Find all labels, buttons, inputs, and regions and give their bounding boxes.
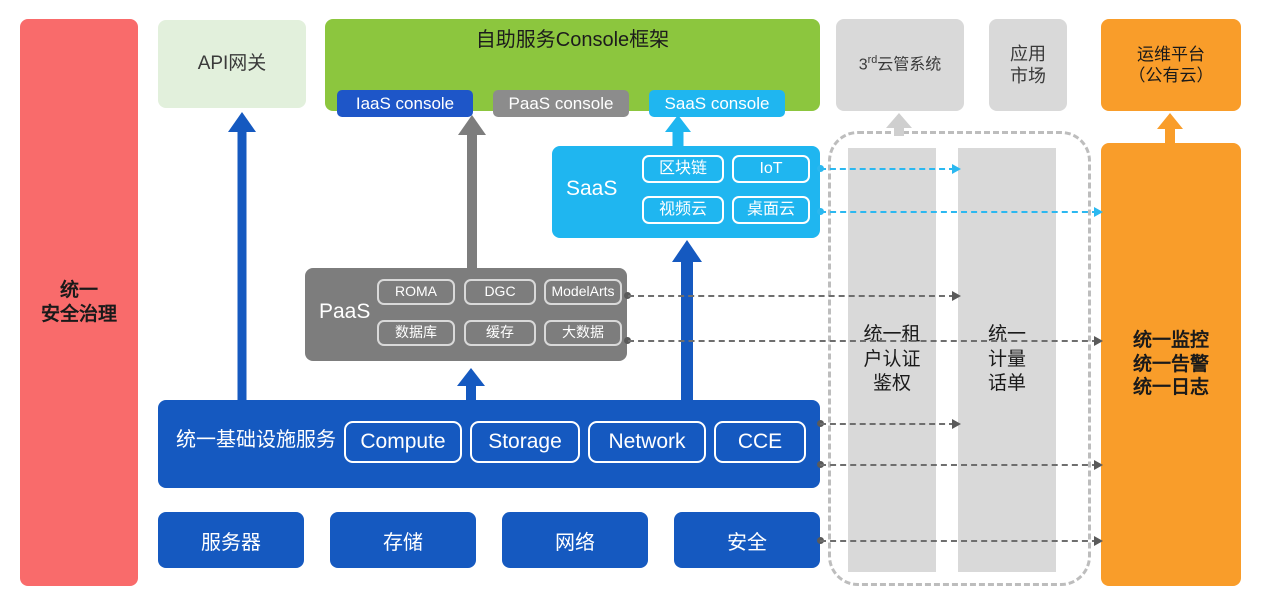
- arrow-infra-to-saas: [672, 240, 702, 400]
- dash-line-saas-to-auth: [820, 168, 955, 170]
- ops-platform-body-label: 统一监控统一告警统一日志: [1133, 329, 1209, 400]
- dash-arrow-paas-to-ops: [1094, 336, 1103, 346]
- saas-chip-iot[interactable]: IoT: [732, 155, 810, 183]
- paas-chip-database[interactable]: 数据库: [377, 320, 455, 346]
- arrow-ops-body-to-ops-top: [1157, 113, 1183, 143]
- arrow-saas-to-console: [665, 115, 691, 146]
- paas-layer-box: PaaS ROMA DGC ModelArts 数据库 缓存 大数据: [305, 268, 627, 361]
- resource-box-network[interactable]: 网络: [502, 512, 648, 568]
- unified-infrastructure-bar: 统一基础设施服务 Compute Storage Network CCE: [158, 400, 820, 488]
- resource-box-security[interactable]: 安全: [674, 512, 820, 568]
- iaas-console-chip[interactable]: IaaS console: [337, 90, 473, 117]
- saas-chip-desktop-cloud[interactable]: 桌面云: [732, 196, 810, 224]
- console-framework-box: 自助服务Console框架 IaaS console PaaS console …: [325, 19, 820, 111]
- api-gateway-box: API网关: [158, 20, 306, 108]
- paas-chip-bigdata[interactable]: 大数据: [544, 320, 622, 346]
- infra-chip-compute[interactable]: Compute: [344, 421, 462, 463]
- app-market-label: 应用市场: [1010, 43, 1046, 88]
- dash-line-paas-to-ops: [628, 340, 1098, 342]
- infra-chip-network[interactable]: Network: [588, 421, 706, 463]
- third-party-cloud-mgmt-box: 3rd云管系统: [836, 19, 964, 111]
- dash-arrow-resource-to-ops: [1094, 536, 1103, 546]
- third-party-label: 3rd云管系统: [859, 54, 942, 75]
- api-gateway-label: API网关: [198, 52, 267, 76]
- paas-chip-roma[interactable]: ROMA: [377, 279, 455, 305]
- paas-chip-dgc[interactable]: DGC: [464, 279, 536, 305]
- resource-box-storage[interactable]: 存储: [330, 512, 476, 568]
- saas-layer-box: SaaS 区块链 IoT 视频云 桌面云: [552, 146, 820, 238]
- infra-chip-cce[interactable]: CCE: [714, 421, 806, 463]
- console-framework-title: 自助服务Console框架: [325, 28, 820, 53]
- dash-line-resource-to-ops: [820, 540, 1098, 542]
- unified-infrastructure-label: 统一基础设施服务: [176, 428, 336, 453]
- saas-chip-blockchain[interactable]: 区块链: [642, 155, 724, 183]
- paas-layer-label: PaaS: [319, 299, 370, 325]
- third-party-superscript: rd: [868, 54, 878, 66]
- dash-line-infra-to-ops: [820, 464, 1098, 466]
- security-governance-label: 统一安全治理: [41, 279, 117, 327]
- ops-platform-public-cloud-box: 运维平台（公有云）: [1101, 19, 1241, 111]
- dash-arrow-saas-to-auth: [952, 164, 961, 174]
- saas-console-chip[interactable]: SaaS console: [649, 90, 785, 117]
- resource-box-server[interactable]: 服务器: [158, 512, 304, 568]
- ops-platform-monitoring-box: 统一监控统一告警统一日志: [1101, 143, 1241, 586]
- arrow-infra-to-api-gateway: [228, 112, 256, 400]
- security-governance-column: 统一安全治理: [20, 19, 138, 586]
- paas-chip-modelarts[interactable]: ModelArts: [544, 279, 622, 305]
- dash-line-saas-to-ops: [820, 211, 1098, 213]
- dash-line-paas-to-auth: [628, 295, 955, 297]
- app-market-box: 应用市场: [989, 19, 1067, 111]
- dash-arrow-saas-to-ops: [1094, 207, 1103, 217]
- arrow-paas-to-console: [458, 115, 486, 268]
- dash-arrow-infra-to-auth: [952, 419, 961, 429]
- dash-arrow-infra-to-ops: [1094, 460, 1103, 470]
- architecture-diagram: 统一安全治理 API网关 自助服务Console框架 IaaS console …: [0, 0, 1265, 605]
- arrow-infra-to-paas: [457, 368, 485, 400]
- paas-chip-cache[interactable]: 缓存: [464, 320, 536, 346]
- ops-platform-top-label: 运维平台（公有云）: [1129, 44, 1214, 87]
- paas-console-chip[interactable]: PaaS console: [493, 90, 629, 117]
- arrow-shared-to-third-party: [886, 113, 912, 136]
- saas-chip-video-cloud[interactable]: 视频云: [642, 196, 724, 224]
- saas-layer-label: SaaS: [566, 176, 617, 202]
- dash-line-infra-to-auth: [820, 423, 955, 425]
- dash-arrow-paas-to-auth: [952, 291, 961, 301]
- infra-chip-storage[interactable]: Storage: [470, 421, 580, 463]
